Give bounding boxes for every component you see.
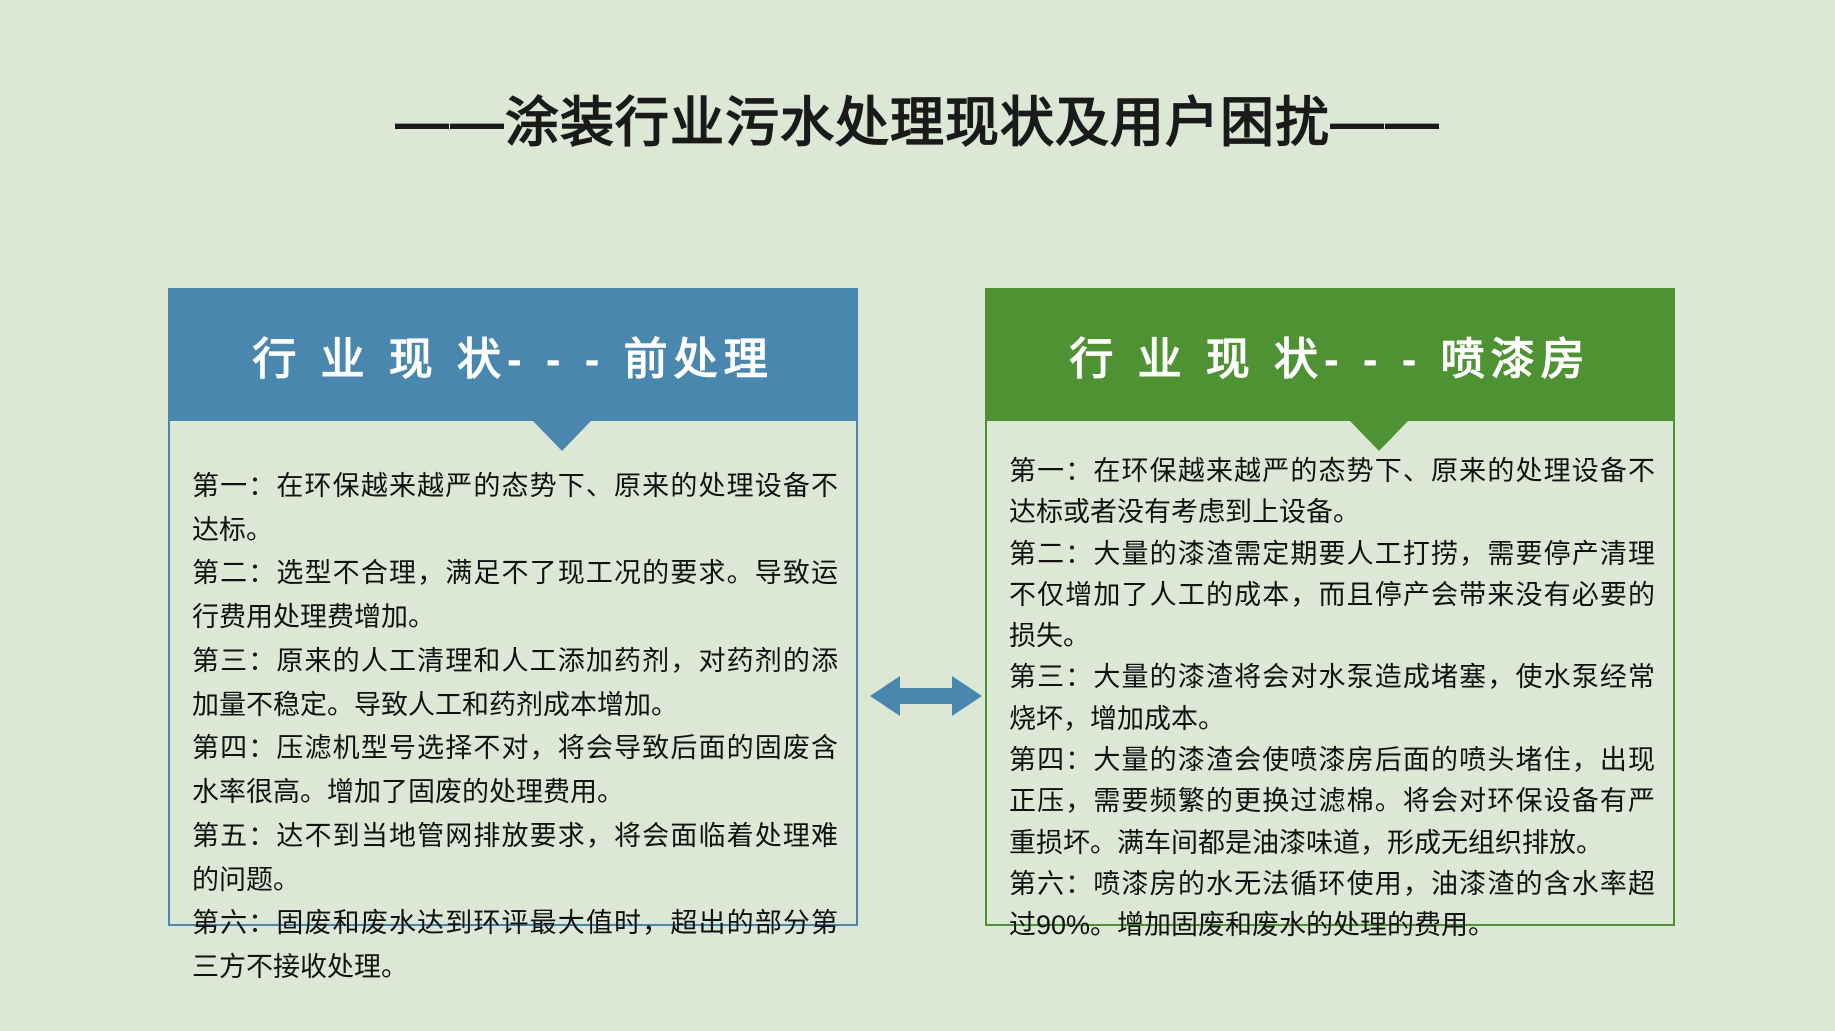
- panel-spraybooth-pointer-icon: [1350, 421, 1408, 451]
- list-item: 第六：喷漆房的水无法循环使用，油漆渣的含水率超过90%。增加固废和废水的处理的费…: [1009, 864, 1655, 947]
- panel-spraybooth: 行 业 现 状- - - 喷漆房 第一：在环保越来越严的态势下、原来的处理设备不…: [985, 288, 1675, 926]
- list-item: 第四：压滤机型号选择不对，将会导致后面的固废含水率很高。增加了固废的处理费用。: [192, 727, 838, 814]
- double-arrow-horizontal-icon: [870, 672, 982, 720]
- list-item: 第四：大量的漆渣会使喷漆房后面的喷头堵住，出现正压，需要频繁的更换过滤棉。将会对…: [1009, 740, 1655, 864]
- list-item: 第六：固废和废水达到环评最大值时，超出的部分第三方不接收处理。: [192, 902, 838, 989]
- panel-pretreatment-pointer-icon: [533, 421, 591, 451]
- slide-canvas: ——涂装行业污水处理现状及用户困扰—— 行 业 现 状- - - 前处理 第一：…: [0, 0, 1835, 1031]
- list-item: 第五：达不到当地管网排放要求，将会面临着处理难的问题。: [192, 815, 838, 902]
- panel-pretreatment: 行 业 现 状- - - 前处理 第一：在环保越来越严的态势下、原来的处理设备不…: [168, 288, 858, 926]
- panel-pretreatment-header: 行 业 现 状- - - 前处理: [168, 288, 858, 421]
- list-item: 第三：原来的人工清理和人工添加药剂，对药剂的添加量不稳定。导致人工和药剂成本增加…: [192, 640, 838, 727]
- list-item: 第二：选型不合理，满足不了现工况的要求。导致运行费用处理费增加。: [192, 552, 838, 639]
- list-item: 第一：在环保越来越严的态势下、原来的处理设备不达标。: [192, 465, 838, 552]
- panel-spraybooth-header: 行 业 现 状- - - 喷漆房: [985, 288, 1675, 421]
- connector-arrow: [870, 672, 982, 720]
- panel-spraybooth-title: 行 业 现 状- - - 喷漆房: [1069, 323, 1590, 387]
- panel-pretreatment-body: 第一：在环保越来越严的态势下、原来的处理设备不达标。 第二：选型不合理，满足不了…: [168, 421, 858, 926]
- panel-spraybooth-body: 第一：在环保越来越严的态势下、原来的处理设备不达标或者没有考虑到上设备。 第二：…: [985, 421, 1675, 926]
- list-item: 第三：大量的漆渣将会对水泵造成堵塞，使水泵经常烧坏，增加成本。: [1009, 657, 1655, 740]
- list-item: 第一：在环保越来越严的态势下、原来的处理设备不达标或者没有考虑到上设备。: [1009, 451, 1655, 534]
- panel-pretreatment-title: 行 业 现 状- - - 前处理: [252, 323, 773, 387]
- list-item: 第二：大量的漆渣需定期要人工打捞，需要停产清理不仅增加了人工的成本，而且停产会带…: [1009, 534, 1655, 658]
- page-title: ——涂装行业污水处理现状及用户困扰——: [0, 78, 1835, 157]
